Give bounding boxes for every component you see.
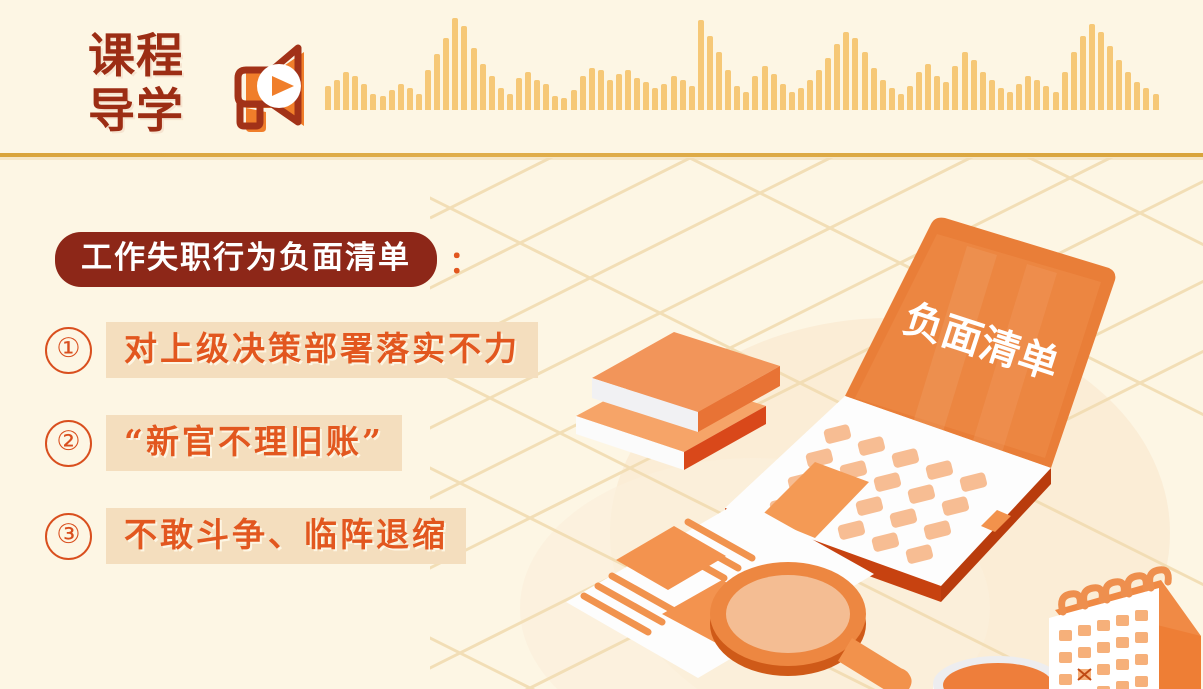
waveform-bar xyxy=(852,38,858,110)
waveform-bar xyxy=(461,26,467,110)
waveform-bar xyxy=(1034,80,1040,110)
waveform-bar xyxy=(798,88,804,110)
list-item-number: ② xyxy=(45,420,92,467)
waveform-bar xyxy=(661,84,667,110)
waveform-bar xyxy=(652,88,658,110)
waveform-bar xyxy=(807,80,813,110)
waveform-bar xyxy=(698,20,704,110)
waveform-bar xyxy=(325,86,331,110)
waveform-bar xyxy=(1107,46,1113,110)
waveform-bar xyxy=(998,88,1004,110)
waveform-bar xyxy=(725,70,731,110)
logo-line-1: 课程 xyxy=(88,33,200,80)
waveform-bar xyxy=(616,74,622,110)
waveform-bar xyxy=(534,80,540,110)
list-item[interactable]: ③ 不敢斗争、临阵退缩 xyxy=(45,508,466,564)
waveform-bar xyxy=(607,80,613,110)
waveform-bar xyxy=(1143,88,1149,110)
waveform-bar xyxy=(880,80,886,110)
list-item-label: 对上级决策部署落实不力 xyxy=(106,322,538,378)
waveform-bar xyxy=(716,52,722,110)
list-item[interactable]: ① 对上级决策部署落实不力 xyxy=(45,322,538,378)
waveform-bar xyxy=(771,74,777,110)
waveform-bar xyxy=(989,80,995,110)
waveform-bar xyxy=(834,44,840,110)
waveform-bar xyxy=(389,90,395,110)
waveform-bar xyxy=(843,32,849,110)
waveform-bar xyxy=(1134,82,1140,110)
waveform-bar xyxy=(1053,92,1059,110)
waveform-bar xyxy=(452,18,458,110)
waveform-bar xyxy=(689,86,695,110)
list-item-number: ① xyxy=(45,327,92,374)
waveform-bar xyxy=(543,84,549,110)
waveform-bar xyxy=(380,96,386,110)
waveform-bar xyxy=(370,94,376,110)
waveform-bar xyxy=(516,78,522,110)
waveform-bar xyxy=(407,88,413,110)
waveform-bar xyxy=(343,72,349,110)
waveform-bar xyxy=(1080,36,1086,110)
waveform-bar xyxy=(889,88,895,110)
waveform-bar xyxy=(498,88,504,110)
course-guide-logo: 课程 导学 xyxy=(88,33,200,143)
waveform-bar xyxy=(671,76,677,110)
header-bar: 课程 导学 xyxy=(0,0,1203,157)
waveform-bar xyxy=(589,68,595,110)
waveform-bar xyxy=(707,36,713,110)
waveform-bar xyxy=(752,76,758,110)
waveform-bar xyxy=(1062,72,1068,110)
page-title: 工作失职行为负面清单 xyxy=(55,232,437,287)
waveform-bar xyxy=(571,90,577,110)
waveform-bar xyxy=(680,80,686,110)
waveform-bar xyxy=(525,72,531,110)
waveform-bar xyxy=(416,94,422,110)
waveform-bar xyxy=(743,92,749,110)
waveform-bar xyxy=(480,64,486,110)
waveform-bar xyxy=(1098,32,1104,110)
waveform-bar xyxy=(862,52,868,110)
waveform-bar xyxy=(634,78,640,110)
page-title-row: 工作失职行为负面清单 ： xyxy=(55,232,480,287)
list-item[interactable]: ② “新官不理旧账” xyxy=(45,415,402,471)
waveform-bar xyxy=(552,96,558,110)
waveform-bar xyxy=(580,76,586,110)
waveform-bar xyxy=(943,82,949,110)
waveform-bar xyxy=(1125,72,1131,110)
waveform-bar xyxy=(825,58,831,110)
list-item-label: 不敢斗争、临阵退缩 xyxy=(106,508,466,564)
waveform-bar xyxy=(816,70,822,110)
waveform-bar xyxy=(1016,84,1022,110)
waveform-bar xyxy=(625,70,631,110)
waveform-bar xyxy=(434,54,440,110)
waveform-bar xyxy=(1007,92,1013,110)
waveform-bar xyxy=(561,98,567,110)
waveform-bar xyxy=(916,72,922,110)
waveform-bar xyxy=(780,84,786,110)
waveform-bar xyxy=(980,72,986,110)
waveform-bar xyxy=(789,92,795,110)
waveform-bar xyxy=(1089,24,1095,110)
waveform-bar xyxy=(352,76,358,110)
audio-waveform xyxy=(325,14,1115,110)
waveform-bar xyxy=(398,84,404,110)
logo-line-2: 导学 xyxy=(88,88,200,135)
waveform-bar xyxy=(1116,60,1122,110)
waveform-bar xyxy=(507,94,513,110)
waveform-bar xyxy=(643,82,649,110)
megaphone-play-icon xyxy=(216,40,312,136)
waveform-bar xyxy=(1071,52,1077,110)
desk-calendar xyxy=(1033,558,1203,689)
waveform-bar xyxy=(471,48,477,110)
waveform-bar xyxy=(334,80,340,110)
waveform-bar xyxy=(762,66,768,110)
waveform-bar xyxy=(871,68,877,110)
waveform-bar xyxy=(898,94,904,110)
waveform-bar xyxy=(1153,94,1159,110)
list-item-label: “新官不理旧账” xyxy=(106,415,402,471)
waveform-bar xyxy=(489,76,495,110)
waveform-bar xyxy=(962,52,968,110)
waveform-bar xyxy=(971,60,977,110)
waveform-bar xyxy=(598,70,604,110)
waveform-bar xyxy=(1025,76,1031,110)
waveform-bar xyxy=(425,70,431,110)
waveform-bar xyxy=(1043,86,1049,110)
waveform-bar xyxy=(734,86,740,110)
list-item-number: ③ xyxy=(45,513,92,560)
waveform-bar xyxy=(907,86,913,110)
title-colon: ： xyxy=(449,237,480,282)
waveform-bar xyxy=(952,66,958,110)
waveform-bar xyxy=(443,38,449,110)
waveform-bar xyxy=(925,64,931,110)
waveform-bar xyxy=(361,84,367,110)
poster-root: 课程 导学 xyxy=(0,0,1203,689)
waveform-bar xyxy=(934,76,940,110)
